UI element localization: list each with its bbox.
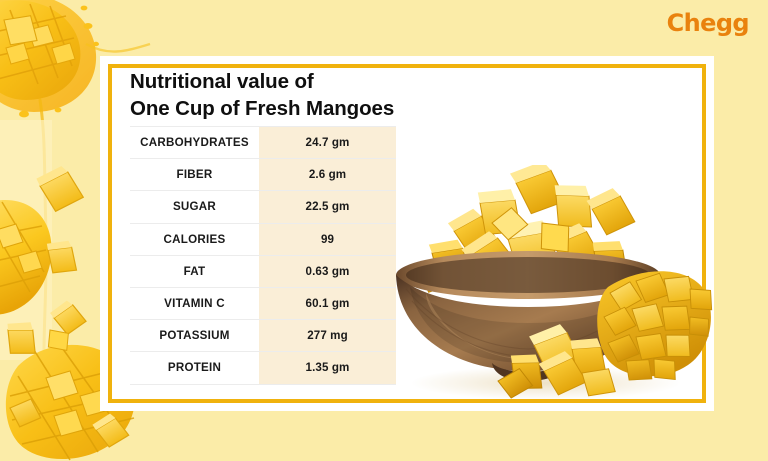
nutrition-table-body: CARBOHYDRATES 24.7 gm FIBER 2.6 gm SUGAR… <box>130 127 396 385</box>
nutrient-value: 24.7 gm <box>259 127 396 159</box>
title-line-1: Nutritional value of <box>130 68 394 95</box>
nutrient-label: CARBOHYDRATES <box>130 127 259 159</box>
nutrient-value: 99 <box>259 223 396 255</box>
table-row: VITAMIN C 60.1 gm <box>130 287 396 319</box>
mango-bowl-photo <box>396 165 714 411</box>
nutrient-value: 1.35 gm <box>259 352 396 384</box>
nutrient-value: 277 mg <box>259 320 396 352</box>
table-row: SUGAR 22.5 gm <box>130 191 396 223</box>
nutrition-table: CARBOHYDRATES 24.7 gm FIBER 2.6 gm SUGAR… <box>130 126 396 385</box>
nutrient-label: FIBER <box>130 159 259 191</box>
table-row: CALORIES 99 <box>130 223 396 255</box>
nutrient-label: CALORIES <box>130 223 259 255</box>
title-line-2: One Cup of Fresh Mangoes <box>130 95 394 122</box>
nutrient-label: FAT <box>130 255 259 287</box>
nutrient-value: 2.6 gm <box>259 159 396 191</box>
table-row: FIBER 2.6 gm <box>130 159 396 191</box>
table-row: POTASSIUM 277 mg <box>130 320 396 352</box>
table-row: FAT 0.63 gm <box>130 255 396 287</box>
hedgehog-cut-mango <box>597 271 714 384</box>
table-row: PROTEIN 1.35 gm <box>130 352 396 384</box>
nutrient-label: VITAMIN C <box>130 287 259 319</box>
nutrient-label: PROTEIN <box>130 352 259 384</box>
nutrient-value: 0.63 gm <box>259 255 396 287</box>
nutrient-value: 60.1 gm <box>259 287 396 319</box>
nutrient-value: 22.5 gm <box>259 191 396 223</box>
page-title: Nutritional value of One Cup of Fresh Ma… <box>130 68 394 122</box>
table-row: CARBOHYDRATES 24.7 gm <box>130 127 396 159</box>
nutrient-label: SUGAR <box>130 191 259 223</box>
chegg-logo[interactable]: Chegg <box>667 11 749 35</box>
nutrient-label: POTASSIUM <box>130 320 259 352</box>
